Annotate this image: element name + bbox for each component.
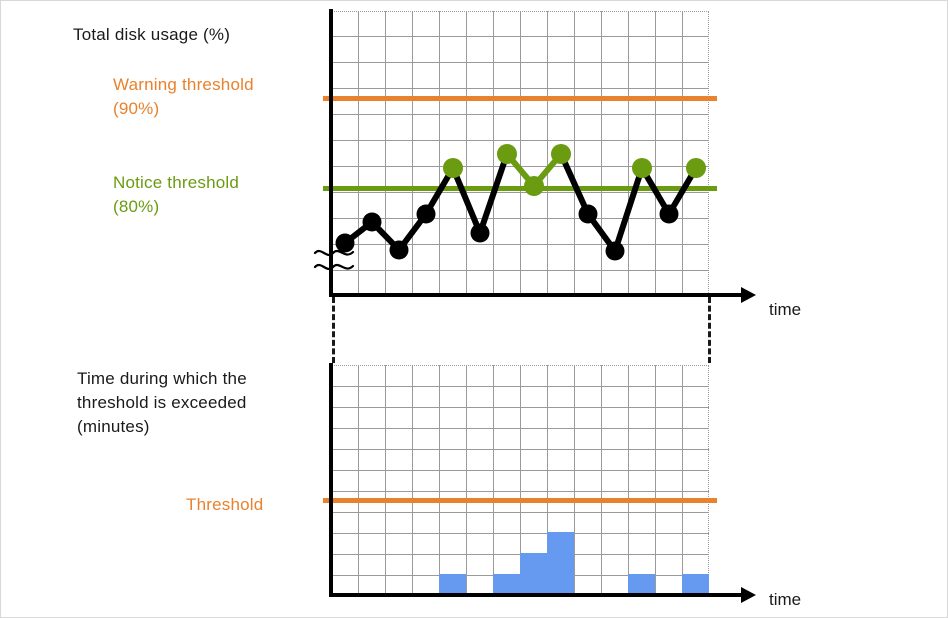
- right-panel-connector: [708, 297, 711, 363]
- notice-threshold-label: Notice threshold (80%): [113, 171, 239, 219]
- data-point-exceeded: [551, 144, 571, 164]
- data-point: [390, 241, 409, 260]
- data-point: [660, 205, 679, 224]
- data-point-exceeded: [686, 158, 706, 178]
- data-point: [363, 213, 382, 232]
- top-chart-x-axis: [329, 293, 749, 297]
- disk-usage-line-chart: [331, 11, 709, 295]
- bar: [520, 553, 547, 595]
- disk-usage-series: [331, 11, 709, 295]
- axis-break-icon: [313, 241, 367, 281]
- bottom-chart-title: Time during which the threshold is excee…: [77, 367, 247, 439]
- data-point: [417, 205, 436, 224]
- data-point: [471, 224, 490, 243]
- diagram-page: Total disk usage (%) Warning threshold (…: [0, 0, 948, 618]
- top-chart-title: Total disk usage (%): [73, 23, 230, 47]
- bottom-chart-x-axis-label: time: [769, 590, 801, 610]
- top-chart-x-axis-arrow: [741, 287, 756, 303]
- left-panel-connector: [332, 297, 335, 363]
- bar: [439, 574, 466, 595]
- data-point: [579, 205, 598, 224]
- threshold-exceeded-bar-chart: [331, 365, 709, 595]
- bottom-chart-x-axis: [329, 593, 749, 597]
- data-point-exceeded: [497, 144, 517, 164]
- bar: [493, 574, 520, 595]
- bar: [547, 532, 574, 595]
- bottom-threshold-label: Threshold: [186, 493, 263, 517]
- data-point-exceeded: [443, 158, 463, 178]
- bar: [628, 574, 655, 595]
- bottom-threshold-line: [323, 498, 717, 503]
- data-point-exceeded: [632, 158, 652, 178]
- warning-threshold-label: Warning threshold (90%): [113, 73, 254, 121]
- bar: [682, 574, 709, 595]
- data-point-exceeded: [524, 176, 544, 196]
- bottom-chart-y-axis: [329, 363, 333, 597]
- top-chart-x-axis-label: time: [769, 300, 801, 320]
- data-point: [606, 242, 625, 261]
- bottom-chart-x-axis-arrow: [741, 587, 756, 603]
